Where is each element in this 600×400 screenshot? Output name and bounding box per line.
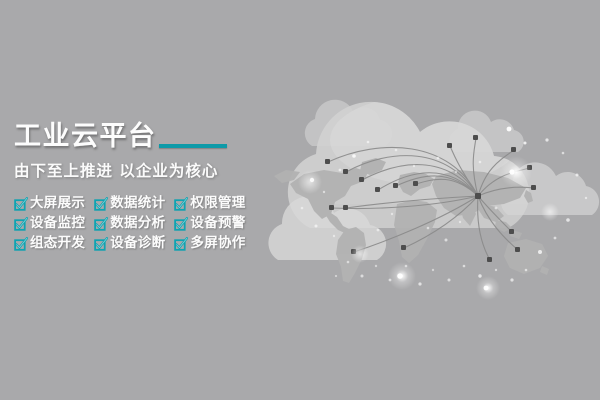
feature-label: 组态开发 — [30, 235, 85, 252]
feature-item-5[interactable]: 设备预警 — [174, 215, 245, 232]
check-square-icon — [94, 197, 108, 211]
check-square-icon — [174, 237, 188, 251]
feature-label: 设备诊断 — [110, 235, 165, 252]
check-square-icon — [14, 217, 28, 231]
feature-item-0[interactable]: 大屏展示 — [14, 195, 85, 212]
feature-label: 数据统计 — [110, 195, 165, 212]
feature-item-4[interactable]: 数据分析 — [94, 215, 165, 232]
feature-item-1[interactable]: 数据统计 — [94, 195, 165, 212]
cloud-world-map-illustration — [250, 80, 600, 310]
title-row: 工业云平台 — [14, 116, 254, 152]
check-square-icon — [174, 217, 188, 231]
feature-label: 设备预警 — [190, 215, 245, 232]
feature-item-2[interactable]: 权限管理 — [174, 195, 245, 212]
feature-item-3[interactable]: 设备监控 — [14, 215, 85, 232]
check-square-icon — [94, 237, 108, 251]
hero-banner: 工业云平台 由下至上推进 以企业为核心 大屏展示 数据统计 — [0, 0, 600, 400]
feature-label: 权限管理 — [190, 195, 245, 212]
feature-grid: 大屏展示 数据统计 权限管理 设备监控 — [14, 195, 254, 252]
hero-copy: 工业云平台 由下至上推进 以企业为核心 大屏展示 数据统计 — [14, 116, 254, 252]
feature-label: 多屏协作 — [190, 235, 245, 252]
feature-item-7[interactable]: 设备诊断 — [94, 235, 165, 252]
page-title: 工业云平台 — [14, 122, 157, 152]
check-square-icon — [174, 197, 188, 211]
feature-item-6[interactable]: 组态开发 — [14, 235, 85, 252]
check-square-icon — [94, 217, 108, 231]
feature-item-8[interactable]: 多屏协作 — [174, 235, 245, 252]
check-square-icon — [14, 197, 28, 211]
page-subtitle: 由下至上推进 以企业为核心 — [14, 161, 254, 181]
feature-label: 数据分析 — [110, 215, 165, 232]
check-square-icon — [14, 237, 28, 251]
feature-label: 大屏展示 — [30, 195, 85, 212]
title-underline — [159, 144, 227, 148]
feature-label: 设备监控 — [30, 215, 85, 232]
